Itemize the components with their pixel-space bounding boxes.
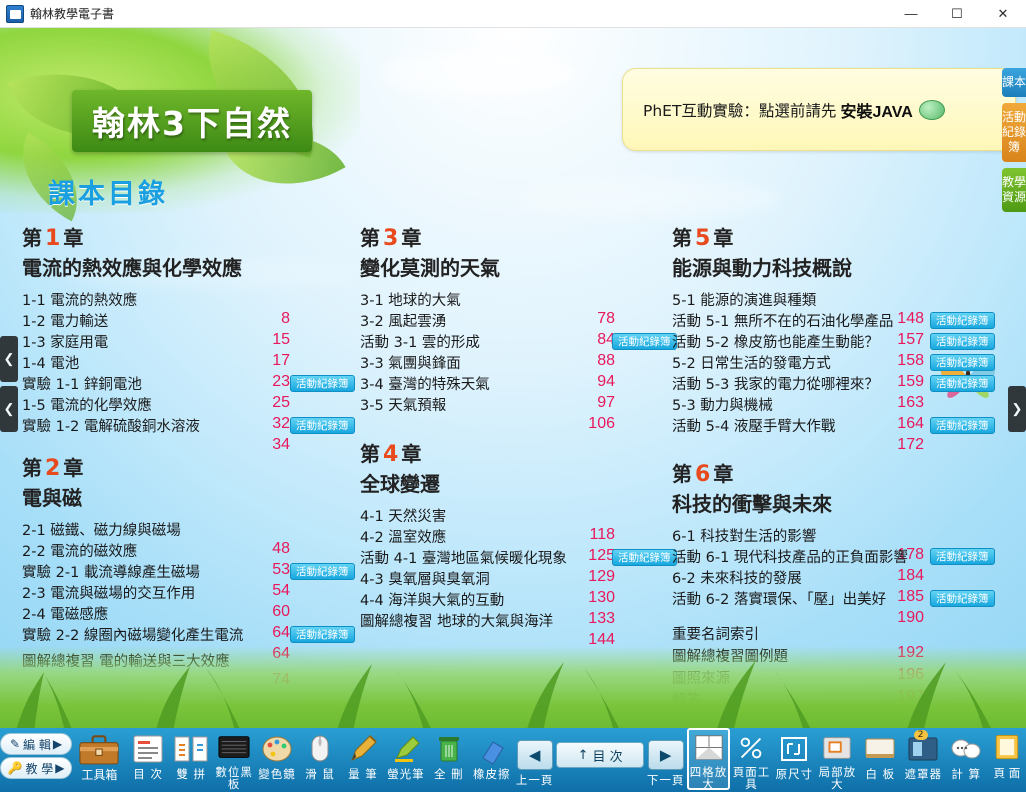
chapter-3-suffix: 章 [401, 226, 421, 250]
toc-entry-label[interactable]: 3-3 氣團與鋒面 [360, 352, 690, 373]
key-icon: 🔑 [7, 761, 22, 775]
side-tab-activity-log[interactable]: 活動紀錄簿 [1002, 103, 1026, 162]
toc-entry-label[interactable]: 圖解總複習 地球的大氣與海洋 [360, 610, 690, 631]
toc-entry-label[interactable]: 2-3 電流與磁場的交互作用 [22, 582, 352, 603]
toc-entry: 1-3 家庭用電17 [22, 331, 352, 352]
toc-entry: 2-1 磁鐵、磁力線與磁場48 [22, 519, 352, 540]
toc-entry: 3-2 風起雲湧84 [360, 310, 690, 331]
contents-menu-button[interactable]: ↑ 目 次 [556, 742, 644, 768]
toc-entry: 4-2 溫室效應125 [360, 526, 690, 547]
chapter-6: 第6章 科技的衝擊與未來 6-1 科技對生活的影響178 活動 6-1 現代科技… [672, 460, 1002, 609]
activity-log-badge[interactable]: 活動紀錄簿 [930, 333, 995, 350]
toolbar-blackboard-label: 數位黑板 [213, 766, 256, 790]
toc-entry: 6-2 未來科技的發展185 [672, 567, 1002, 588]
toolbar-prev-page-label: 上一頁 [516, 774, 554, 786]
toolbar-zoom-region-label: 局部放大 [816, 766, 859, 790]
toc-entry-label[interactable]: 5-3 動力與機械 [672, 394, 1002, 415]
title-bar: 翰林教學電子書 — ☐ ✕ [0, 0, 1026, 28]
toc-entry-label[interactable]: 6-2 未來科技的發展 [672, 567, 1002, 588]
four-grid-zoom-icon [690, 732, 728, 764]
toolbar-pen-label: 量 筆 [348, 768, 378, 780]
toc-entry: 3-5 天氣預報106 [360, 394, 690, 415]
book-title-plate: 翰林3下自然 [72, 90, 312, 152]
chapter-6-prefix: 第 [672, 462, 692, 486]
toolbar-actual-size-button[interactable]: 原尺寸 [773, 728, 816, 790]
color-lens-icon [258, 732, 296, 766]
toolbar-clear-all-label: 全 刪 [434, 768, 464, 780]
toc-entry: 4-3 臭氧層與臭氧洞130 [360, 568, 690, 589]
toolbar-page-panel-button[interactable]: 頁 面 [988, 728, 1026, 790]
toc-entry: 5-3 動力與機械164 [672, 394, 1002, 415]
chapter-5-heading: 第5章 [672, 224, 1002, 253]
activity-log-badge[interactable]: 活動紀錄簿 [290, 375, 355, 392]
chapter-5: 第5章 能源與動力科技概說 5-1 能源的演進與種類148 活動 5-1 無所不… [672, 224, 1002, 436]
blackboard-icon [215, 732, 253, 764]
toc-entry-label[interactable]: 1-1 電流的熱效應 [22, 289, 352, 310]
toolbar-dual-page-label: 雙 拼 [176, 768, 206, 780]
toolbar-four-grid-zoom-button[interactable]: 四格放大 [687, 728, 730, 790]
toc-entry: 3-3 氣團與鋒面94 [360, 352, 690, 373]
toolbar-whiteboard-button[interactable]: 白 板 [859, 728, 902, 790]
toc-entry: 1-2 電力輸送15 [22, 310, 352, 331]
toolbar-eraser-button[interactable]: 橡皮擦 [470, 728, 513, 790]
toolbar-mouse-label: 滑 鼠 [305, 768, 335, 780]
chapter-1: 第1章 電流的熱效應與化學效應 1-1 電流的熱效應8 1-2 電力輸送15 1… [22, 224, 352, 436]
zoom-region-icon [818, 732, 856, 764]
toolbar-calculator-label: 計 算 [951, 768, 981, 780]
toc-entry-label[interactable]: 3-1 地球的大氣 [360, 289, 690, 310]
chapter-3-title: 變化莫測的天氣 [360, 253, 690, 283]
toolbar-mouse-button[interactable]: 滑 鼠 [299, 728, 342, 790]
chapter-1-title: 電流的熱效應與化學效應 [22, 253, 352, 283]
toc-entry: 5-2 日常生活的發電方式159活動紀錄簿 [672, 352, 1002, 373]
toolbox-icon [74, 730, 124, 766]
toolbar-blackboard-button[interactable]: 數位黑板 [213, 728, 256, 790]
toc-entry-page[interactable]: 172 [884, 436, 924, 454]
toc-entry: 活動 4-1 臺灣地區氣候暖化現象129活動紀錄簿 [360, 547, 690, 568]
toc-entry-page[interactable]: 106 [575, 415, 615, 433]
activity-log-badge[interactable]: 活動紀錄簿 [290, 417, 355, 434]
toolbar-mask-button[interactable]: 2 遮罩器 [902, 728, 945, 790]
window-title: 翰林教學電子書 [30, 5, 114, 22]
toc-entry: 1-4 電池23 [22, 352, 352, 373]
page-next-arrow[interactable]: ❯ [1008, 386, 1026, 432]
contents-icon [129, 732, 167, 766]
toc-entry-label[interactable]: 3-2 風起雲湧 [360, 310, 690, 331]
chapter-3-prefix: 第 [360, 226, 380, 250]
toc-entry: 活動 6-2 落實環保、「壓」出美好190活動紀錄簿 [672, 588, 1002, 609]
toc-entry-label[interactable]: 4-4 海洋與大氣的互動 [360, 589, 690, 610]
toolbar-page-panel-label: 頁 面 [994, 765, 1021, 781]
activity-log-badge[interactable]: 活動紀錄簿 [612, 549, 677, 566]
chapter-4-number: 4 [380, 442, 401, 467]
eraser-icon [473, 732, 511, 766]
toolbar-dual-page-button[interactable]: 雙 拼 [170, 728, 213, 790]
toc-entry: 活動 5-2 橡皮筋也能產生動能？158活動紀錄簿 [672, 331, 1002, 352]
toolbar-highlighter-label: 螢光筆 [387, 768, 425, 780]
chapter-6-title: 科技的衝擊與未來 [672, 489, 1002, 519]
maximize-button[interactable]: ☐ [934, 0, 980, 28]
toc-entry: 1-1 電流的熱效應8 [22, 289, 352, 310]
calculator-icon [947, 732, 985, 766]
toc-entry: 活動 3-1 雲的形成88活動紀錄簿 [360, 331, 690, 352]
chapter-6-heading: 第6章 [672, 460, 1002, 489]
window-controls: — ☐ ✕ [888, 0, 1026, 28]
teach-mode-button[interactable]: 🔑 教 學 ▶ [0, 757, 72, 779]
chapter-3: 第3章 變化莫測的天氣 3-1 地球的大氣78 3-2 風起雲湧84 活動 3-… [360, 224, 690, 415]
actual-size-icon [775, 732, 813, 766]
toc-entry: 4-1 天然災害118 [360, 505, 690, 526]
toolbar-actual-size-label: 原尺寸 [776, 768, 814, 780]
chapter-5-number: 5 [692, 226, 713, 251]
toc-entry: 6-1 科技對生活的影響178 [672, 525, 1002, 546]
page-tools-icon [732, 732, 770, 764]
chapter-2-title: 電與磁 [22, 483, 352, 513]
side-tab-group: 課本 活動紀錄簿 教學資源 [1002, 68, 1026, 218]
activity-log-badge[interactable]: 活動紀錄簿 [930, 590, 995, 607]
toc-entry-label[interactable]: 3-4 臺灣的特殊天氣 [360, 373, 690, 394]
toc-column-2: 第3章 變化莫測的天氣 3-1 地球的大氣78 3-2 風起雲湧84 活動 3-… [360, 224, 690, 639]
activity-log-badge[interactable]: 活動紀錄簿 [290, 563, 355, 580]
phet-notice[interactable]: PhET互動實驗：點選前請先 安裝JAVA [622, 68, 1016, 151]
chevron-right-icon: ▶ [53, 737, 62, 751]
book-title: 翰林3下自然 [92, 97, 292, 145]
toc-entry: 活動 5-4 液壓手臂大作戰172活動紀錄簿 [672, 415, 1002, 436]
globe-icon [919, 100, 945, 120]
toc-entry: 實驗 2-1 載流導線產生磁場54活動紀錄簿 [22, 561, 352, 582]
chapter-1-suffix: 章 [63, 226, 83, 250]
next-arrow-icon: ▶ [648, 740, 684, 770]
edit-mode-button[interactable]: ✎ 編 輯 ▶ [0, 733, 72, 755]
toc-entry-page[interactable]: 34 [250, 436, 290, 454]
toc-entry: 1-5 電流的化學效應32 [22, 394, 352, 415]
bottom-toolbar: ✎ 編 輯 ▶ 🔑 教 學 ▶ 工具箱 目 次 [0, 728, 1026, 792]
toc-entry-label[interactable]: 1-3 家庭用電 [22, 331, 352, 352]
chapter-2-prefix: 第 [22, 456, 42, 480]
toc-entry-label[interactable]: 4-2 溫室效應 [360, 526, 690, 547]
toc-entry-label[interactable]: 3-5 天氣預報 [360, 394, 690, 415]
toc-entry-label[interactable]: 5-1 能源的演進與種類 [672, 289, 1002, 310]
toolbar-contents-label: 目 次 [133, 768, 163, 780]
chevron-right-icon: ▶ [55, 761, 64, 775]
chapter-5-title: 能源與動力科技概說 [672, 253, 1002, 283]
chapter-4-suffix: 章 [401, 442, 421, 466]
toolbar-mode-group: ✎ 編 輯 ▶ 🔑 教 學 ▶ [0, 728, 72, 781]
activity-log-badge[interactable]: 活動紀錄簿 [612, 333, 677, 350]
mask-badge-count: 2 [914, 730, 928, 740]
toolbar-menu-label: 目 次 [593, 746, 623, 765]
toolbar-mask-label: 遮罩器 [904, 768, 942, 780]
cloud-decoration [520, 178, 780, 218]
edit-mode-label: 編 輯 [23, 736, 51, 753]
app-icon [6, 5, 24, 23]
toc-entry-label[interactable]: 2-2 電流的磁效應 [22, 540, 352, 561]
page-panel-icon [990, 731, 1024, 765]
toc-entry-label[interactable]: 4-1 天然災害 [360, 505, 690, 526]
toolbox-label: 工具箱 [81, 766, 117, 783]
toc-column-1: 第1章 電流的熱效應與化學效應 1-1 電流的熱效應8 1-2 電力輸送15 1… [22, 224, 352, 679]
chapter-4-title: 全球變遷 [360, 469, 690, 499]
toc-entry: 4-4 海洋與大氣的互動133 [360, 589, 690, 610]
toolbar-eraser-label: 橡皮擦 [473, 768, 511, 780]
close-button[interactable]: ✕ [980, 0, 1026, 28]
toolbar-pen-button[interactable]: 量 筆 [341, 728, 384, 790]
prev-arrow-icon: ◀ [517, 740, 553, 770]
chapter-1-number: 1 [42, 226, 63, 251]
minimize-button[interactable]: — [888, 0, 934, 28]
install-java-link[interactable]: 安裝JAVA [840, 98, 912, 122]
toolbar-menu-button[interactable]: ↑ 目 次 [556, 728, 644, 790]
chapter-6-suffix: 章 [713, 462, 733, 486]
toolbar-highlighter-button[interactable]: 螢光筆 [384, 728, 427, 790]
toolbar-prev-page-button[interactable]: ◀ 上一頁 [513, 728, 556, 790]
toc-entry: 3-1 地球的大氣78 [360, 289, 690, 310]
chapter-2-suffix: 章 [63, 456, 83, 480]
activity-log-badge[interactable]: 活動紀錄簿 [930, 354, 995, 371]
toc-entry-label[interactable]: 1-2 電力輸送 [22, 310, 352, 331]
toc-entry: 圖解總複習 地球的大氣與海洋144 [360, 610, 690, 631]
toc-entry: 活動 5-1 無所不在的石油化學產品157活動紀錄簿 [672, 310, 1002, 331]
pen-icon [344, 732, 382, 766]
highlighter-icon [387, 732, 425, 766]
chapter-5-suffix: 章 [713, 226, 733, 250]
toolbar-next-page-button[interactable]: ▶ 下一頁 [644, 728, 687, 790]
toc-entry-label[interactable]: 2-1 磁鐵、磁力線與磁場 [22, 519, 352, 540]
toolbar-page-tools-label: 頁面工具 [730, 766, 773, 790]
toolbar-clear-all-button[interactable]: 全 刪 [427, 728, 470, 790]
toc-entry: 5-1 能源的演進與種類148 [672, 289, 1002, 310]
toolbar-page-tools-button[interactable]: 頁面工具 [730, 728, 773, 790]
whiteboard-icon [861, 732, 899, 766]
activity-log-badge[interactable]: 活動紀錄簿 [930, 417, 995, 434]
chapter-2-number: 2 [42, 456, 63, 481]
mouse-icon [301, 732, 339, 766]
toolbox-button[interactable]: 工具箱 [72, 728, 127, 790]
toc-entry-label[interactable]: 2-4 電磁感應 [22, 603, 352, 624]
trash-icon [430, 732, 468, 766]
page-title: 課本目錄 [48, 172, 168, 211]
chapter-3-heading: 第3章 [360, 224, 690, 253]
toc-entry-label[interactable]: 4-3 臭氧層與臭氧洞 [360, 568, 690, 589]
toolbar-zoom-region-button[interactable]: 局部放大 [816, 728, 859, 790]
toc-entry: 實驗 1-2 電解硫酸銅水溶液34活動紀錄簿 [22, 415, 352, 436]
side-tab-teaching-resources[interactable]: 教學資源 [1002, 168, 1026, 212]
toolbar-whiteboard-label: 白 板 [865, 768, 895, 780]
toolbar-color-lens-label: 變色鏡 [258, 768, 296, 780]
chapter-1-heading: 第1章 [22, 224, 352, 253]
toc-entry: 活動 5-3 我家的電力從哪裡來？163活動紀錄簿 [672, 373, 1002, 394]
toolbar-color-lens-button[interactable]: 變色鏡 [256, 728, 299, 790]
toc-entry-label[interactable]: 1-5 電流的化學效應 [22, 394, 352, 415]
chapter-4-heading: 第4章 [360, 440, 690, 469]
toc-entry: 實驗 1-1 鋅銅電池25活動紀錄簿 [22, 373, 352, 394]
toolbar-calculator-button[interactable]: 計 算 [945, 728, 988, 790]
toc-entry: 2-3 電流與磁場的交互作用60 [22, 582, 352, 603]
chapter-5-prefix: 第 [672, 226, 692, 250]
book-page: 翰林3下自然 課本目錄 PhET互動實驗：點選前請先 安裝JAVA 課本 活動紀… [0, 28, 1026, 756]
toolbar-four-grid-zoom-label: 四格放大 [687, 766, 730, 790]
toc-entry: 2-2 電流的磁效應53 [22, 540, 352, 561]
toc-entry: 3-4 臺灣的特殊天氣97 [360, 373, 690, 394]
toc-entry: 2-4 電磁感應64 [22, 603, 352, 624]
toc-entry-label[interactable]: 1-4 電池 [22, 352, 352, 373]
chapter-4: 第4章 全球變遷 4-1 天然災害118 4-2 溫室效應125 活動 4-1 … [360, 440, 690, 631]
table-of-contents: 第1章 電流的熱效應與化學效應 1-1 電流的熱效應8 1-2 電力輸送15 1… [0, 224, 1000, 704]
chapter-2-heading: 第2章 [22, 454, 352, 483]
toc-entry: 活動 6-1 現代科技產品的正負面影響184活動紀錄簿 [672, 546, 1002, 567]
chapter-3-number: 3 [380, 226, 401, 251]
activity-log-badge[interactable]: 活動紀錄簿 [930, 548, 995, 565]
toolbar-contents-button[interactable]: 目 次 [127, 728, 170, 790]
activity-log-badge[interactable]: 活動紀錄簿 [930, 375, 995, 392]
chapter-1-prefix: 第 [22, 226, 42, 250]
dual-page-icon [172, 732, 210, 766]
chapter-6-number: 6 [692, 462, 713, 487]
pencil-icon: ✎ [10, 737, 20, 751]
teach-mode-label: 教 學 [25, 760, 53, 777]
activity-log-badge[interactable]: 活動紀錄簿 [930, 312, 995, 329]
toc-entry-label[interactable]: 6-1 科技對生活的影響 [672, 525, 1002, 546]
cloud-decoration [380, 50, 580, 98]
toolbar-next-page-label: 下一頁 [647, 774, 685, 786]
phet-notice-text: PhET互動實驗：點選前請先 [643, 99, 836, 121]
side-tab-textbook[interactable]: 課本 [1002, 68, 1026, 97]
up-arrow-icon: ↑ [578, 748, 589, 763]
chapter-4-prefix: 第 [360, 442, 380, 466]
